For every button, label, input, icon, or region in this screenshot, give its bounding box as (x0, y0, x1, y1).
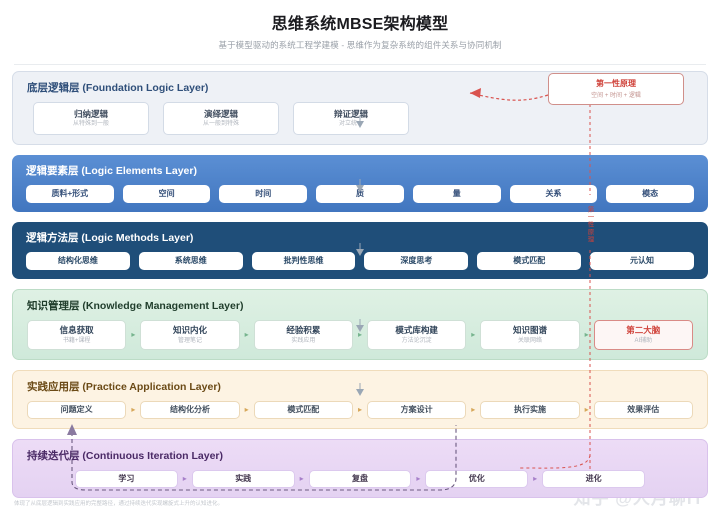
chip-practice[interactable]: 实践 (192, 470, 295, 488)
first-principle-sublabel: 空间 + 时间 + 逻辑 (591, 90, 641, 99)
chip-sublabel: 管理笔记 (178, 338, 202, 345)
page-title: 思维系统MBSE架构模型 (0, 10, 720, 34)
chip-label: 辩证逻辑 (334, 109, 368, 120)
layer-title-cn: 逻辑方法层 (26, 232, 79, 244)
layer-title-en: (Logic Elements Layer) (81, 165, 197, 177)
layer-title-cn: 知识管理层 (27, 300, 80, 312)
layer-title-knowledge: 知识管理层 (Knowledge Management Layer) (27, 298, 697, 313)
chip-sublabel: 实践应用 (291, 338, 315, 345)
chip-label: 时间 (255, 189, 271, 199)
layer-title-practice: 实践应用层 (Practice Application Layer) (27, 379, 697, 394)
chip-label: 进化 (586, 474, 602, 484)
page-header: 思维系统MBSE架构模型 基于模型驱动的系统工程学建模 - 思维作为复杂系统的组… (0, 0, 720, 57)
chip-modality[interactable]: 模态 (606, 185, 694, 203)
chip-label: 知识内化 (173, 325, 207, 336)
chip-sublabel: AI辅助 (634, 338, 652, 345)
chip-label: 信息获取 (60, 325, 94, 336)
layer-title-cn: 实践应用层 (27, 381, 80, 393)
flow-arrow-icon: ▸ (178, 470, 192, 488)
chip-label: 经验积累 (286, 325, 320, 336)
chip-label: 问题定义 (61, 405, 93, 415)
chip-optimize[interactable]: 优化 (425, 470, 528, 488)
flow-arrow-icon: ▸ (295, 470, 309, 488)
layer-continuous-iteration[interactable]: 持续迭代层 (Continuous Iteration Layer) 学习 ▸ … (12, 439, 708, 498)
chip-row-foundation: 归纳逻辑 从特殊到一般 演绎逻辑 从一般到特殊 辩证逻辑 对立统一 (23, 102, 697, 135)
chip-row-practice: 问题定义 ▸ 结构化分析 ▸ 模式匹配 ▸ 方案设计 ▸ 执行实施 ▸ 效果评估 (23, 401, 697, 419)
layer-logic-methods[interactable]: 逻辑方法层 (Logic Methods Layer) 结构化思维 系统思维 批… (12, 222, 708, 279)
chip-systems-thinking[interactable]: 系统思维 (139, 252, 243, 270)
chip-deduction[interactable]: 演绎逻辑 从一般到特殊 (163, 102, 279, 135)
chip-label: 知识图谱 (513, 325, 547, 336)
chip-label: 模式库构建 (395, 325, 438, 336)
chip-row-logic-methods: 结构化思维 系统思维 批判性思维 深度思考 模式匹配 元认知 (22, 252, 698, 270)
flow-arrow-icon: ▸ (240, 401, 254, 419)
chip-experience[interactable]: 经验积累 实践应用 (254, 320, 353, 350)
chip-label: 结构化分析 (170, 405, 210, 415)
chip-pattern-matching[interactable]: 模式匹配 (477, 252, 581, 270)
chip-info-acquisition[interactable]: 信息获取 书籍+课程 (27, 320, 126, 350)
chip-label: 实践 (235, 474, 251, 484)
chip-execution[interactable]: 执行实施 (480, 401, 579, 419)
chip-label: 批判性思维 (284, 256, 324, 266)
chip-learn[interactable]: 学习 (75, 470, 178, 488)
layer-title-cn: 持续迭代层 (27, 450, 80, 462)
first-principle-vertical-label: 第一性原理 (584, 206, 594, 244)
layer-title-cn: 逻辑要素层 (26, 165, 79, 177)
chip-label: 深度思考 (400, 256, 432, 266)
chip-label: 归纳逻辑 (74, 109, 108, 120)
flow-arrow-icon: ▸ (240, 320, 254, 350)
layer-title-iteration: 持续迭代层 (Continuous Iteration Layer) (27, 448, 697, 463)
chip-label: 复盘 (352, 474, 368, 484)
chip-label: 第二大脑 (626, 325, 660, 336)
chip-pattern-match-practice[interactable]: 模式匹配 (254, 401, 353, 419)
chip-quantity[interactable]: 量 (413, 185, 501, 203)
page-subtitle: 基于模型驱动的系统工程学建模 - 思维作为复杂系统的组件关系与协同机制 (0, 39, 720, 51)
chip-sublabel: 从特殊到一般 (73, 121, 109, 128)
footer-line-2: 体现了从底层逻辑到实践应用的完整路径，通过持续迭代实现螺旋式上升的认知进化。 (14, 499, 454, 509)
chip-quality[interactable]: 质 (316, 185, 404, 203)
chip-label: 质 (356, 189, 364, 199)
chip-review[interactable]: 复盘 (309, 470, 412, 488)
chip-label: 模式匹配 (513, 256, 545, 266)
chip-problem-definition[interactable]: 问题定义 (27, 401, 126, 419)
chip-structured-thinking[interactable]: 结构化思维 (26, 252, 130, 270)
flow-arrow-icon: ▸ (353, 401, 367, 419)
layer-title-en: (Knowledge Management Layer) (82, 300, 243, 312)
first-principle-callout[interactable]: 第一性原理 空间 + 时间 + 逻辑 (548, 73, 684, 105)
chip-label: 模态 (642, 189, 658, 199)
first-principle-label: 第一性原理 (596, 79, 636, 89)
layer-stack: 底层逻辑层 (Foundation Logic Layer) 归纳逻辑 从特殊到… (0, 65, 720, 498)
flow-arrow-icon: ▸ (528, 470, 542, 488)
chip-row-logic-elements: 质料+形式 空间 时间 质 量 关系 模态 (22, 185, 698, 203)
chip-row-iteration: 学习 ▸ 实践 ▸ 复盘 ▸ 优化 ▸ 进化 (23, 470, 697, 488)
chip-sublabel: 关联网络 (518, 338, 542, 345)
chip-evaluation[interactable]: 效果评估 (594, 401, 693, 419)
layer-title-en: (Foundation Logic Layer) (82, 82, 208, 94)
chip-deep-thinking[interactable]: 深度思考 (364, 252, 468, 270)
chip-label: 方案设计 (401, 405, 433, 415)
chip-sublabel: 对立统一 (339, 121, 363, 128)
layer-practice-application[interactable]: 实践应用层 (Practice Application Layer) 问题定义 … (12, 370, 708, 429)
chip-label: 演绎逻辑 (204, 109, 238, 120)
layer-title-en: (Continuous Iteration Layer) (82, 450, 223, 462)
layer-title-logic-methods: 逻辑方法层 (Logic Methods Layer) (26, 230, 698, 245)
chip-critical-thinking[interactable]: 批判性思维 (252, 252, 356, 270)
layer-title-cn: 底层逻辑层 (27, 82, 80, 94)
chip-internalization[interactable]: 知识内化 管理笔记 (140, 320, 239, 350)
flow-arrow-icon: ▸ (466, 320, 480, 350)
layer-knowledge-management[interactable]: 知识管理层 (Knowledge Management Layer) 信息获取 … (12, 289, 708, 360)
flow-arrow-icon: ▸ (411, 470, 425, 488)
chip-metacognition[interactable]: 元认知 (590, 252, 694, 270)
flow-arrow-icon: ▸ (580, 401, 594, 419)
chip-solution-design[interactable]: 方案设计 (367, 401, 466, 419)
chip-matter-form[interactable]: 质料+形式 (26, 185, 114, 203)
chip-label: 学习 (118, 474, 134, 484)
chip-dialectic[interactable]: 辩证逻辑 对立统一 (293, 102, 409, 135)
chip-second-brain[interactable]: 第二大脑 AI辅助 (594, 320, 693, 350)
chip-label: 模式匹配 (287, 405, 319, 415)
chip-sublabel: 从一般到特殊 (203, 121, 239, 128)
chip-label: 结构化思维 (58, 256, 98, 266)
diagram-root: 思维系统MBSE架构模型 基于模型驱动的系统工程学建模 - 思维作为复杂系统的组… (0, 0, 720, 523)
flow-arrow-icon: ▸ (353, 320, 367, 350)
chip-label: 执行实施 (514, 405, 546, 415)
chip-time[interactable]: 时间 (219, 185, 307, 203)
chip-sublabel: 方法论沉淀 (402, 338, 432, 345)
chip-relation[interactable]: 关系 (510, 185, 598, 203)
flow-arrow-icon: ▸ (126, 401, 140, 419)
chip-label: 元认知 (630, 256, 654, 266)
chip-space[interactable]: 空间 (123, 185, 211, 203)
chip-pattern-library[interactable]: 模式库构建 方法论沉淀 (367, 320, 466, 350)
layer-title-en: (Practice Application Layer) (82, 381, 220, 393)
layer-title-logic-elements: 逻辑要素层 (Logic Elements Layer) (26, 163, 698, 178)
chip-label: 系统思维 (175, 256, 207, 266)
chip-label: 空间 (159, 189, 175, 199)
flow-arrow-icon: ▸ (466, 401, 480, 419)
chip-structured-analysis[interactable]: 结构化分析 (140, 401, 239, 419)
chip-label: 效果评估 (627, 405, 659, 415)
layer-title-en: (Logic Methods Layer) (81, 232, 193, 244)
flow-arrow-icon: ▸ (580, 320, 594, 350)
chip-label: 量 (453, 189, 461, 199)
chip-evolve[interactable]: 进化 (542, 470, 645, 488)
chip-label: 关系 (545, 189, 561, 199)
chip-induction[interactable]: 归纳逻辑 从特殊到一般 (33, 102, 149, 135)
chip-knowledge-graph[interactable]: 知识图谱 关联网络 (480, 320, 579, 350)
chip-sublabel: 书籍+课程 (63, 338, 91, 345)
chip-row-knowledge: 信息获取 书籍+课程 ▸ 知识内化 管理笔记 ▸ 经验积累 实践应用 ▸ 模式库… (23, 320, 697, 350)
layer-logic-elements[interactable]: 逻辑要素层 (Logic Elements Layer) 质料+形式 空间 时间… (12, 155, 708, 212)
chip-label: 质料+形式 (52, 189, 89, 199)
flow-arrow-icon: ▸ (126, 320, 140, 350)
chip-label: 优化 (469, 474, 485, 484)
